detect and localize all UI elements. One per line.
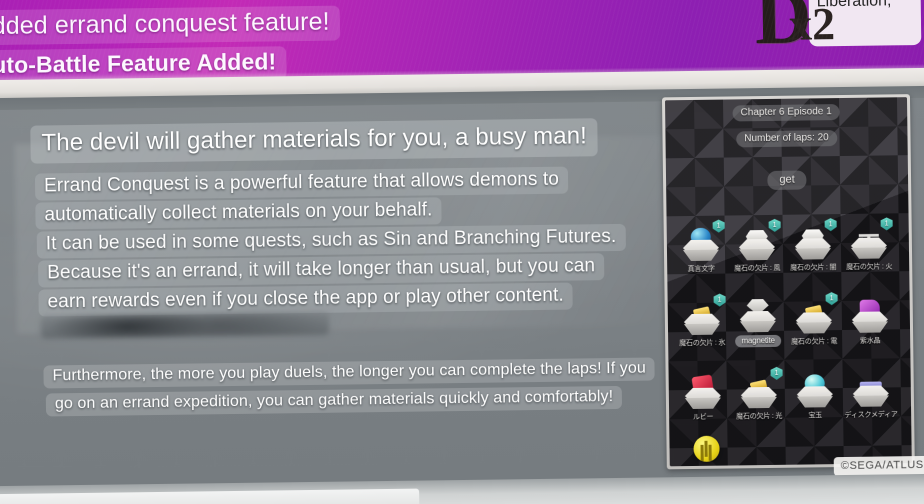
item-label: 魔石の欠片 : 闇 — [790, 262, 836, 273]
pedestal-side — [853, 395, 889, 406]
reward-item[interactable]: 1魔石の欠片 : 光 — [730, 359, 787, 422]
reward-item[interactable]: ルビー — [674, 359, 731, 422]
chapter-label: Chapter 6 Episode 1 — [732, 104, 839, 121]
pedestal-side — [852, 321, 888, 332]
banner-headline-errand: Added errand conquest feature! — [0, 6, 340, 46]
item-label: ディスクメディア — [844, 409, 897, 420]
pedestal-side — [796, 322, 832, 333]
page-title: The devil will gather materials for you,… — [30, 118, 598, 163]
game-screenshot-panel: Chapter 6 Episode 1 Number of laps: 20 g… — [662, 94, 915, 469]
reward-item[interactable]: 1真言文字 — [672, 212, 729, 275]
reward-item[interactable]: 1魔石の欠片 : 電 — [785, 284, 842, 347]
item-label: 紫水晶 — [860, 336, 881, 346]
item-label: 魔石の欠片 : 光 — [736, 411, 782, 422]
reward-item[interactable]: 1魔石の欠片 : 風 — [728, 211, 785, 274]
pedestal-side — [851, 247, 887, 258]
item-pedestal-icon — [792, 226, 834, 261]
logo-caption-main-text: Liberation, — [817, 0, 913, 11]
item-label: 魔石の欠片 : 火 — [846, 261, 892, 272]
pedestal-side — [685, 398, 721, 409]
laps-label: Number of laps: 20 — [736, 130, 837, 147]
logo-x2-mark: x2 — [789, 1, 836, 48]
item-label: ルビー — [693, 412, 714, 422]
bottom-white-strip — [0, 489, 419, 504]
item-pedestal-icon — [737, 299, 779, 334]
item-pedestal-icon — [682, 376, 724, 411]
reward-item[interactable]: 1魔石の欠片 : 氷 — [673, 286, 730, 349]
item-label: 真言文字 — [688, 264, 715, 274]
body-line: automatically collect materials on your … — [35, 197, 441, 229]
item-pedestal-icon — [681, 302, 723, 337]
pedestal-side — [739, 249, 775, 260]
game-logo: Shin Megami Liberation, D x2 — [754, 0, 924, 64]
item-pedestal-icon — [848, 225, 890, 260]
item-pedestal-icon — [793, 300, 835, 335]
logo-d-mark: D — [754, 0, 811, 56]
item-label: magnetite — [735, 335, 780, 348]
pedestal-side — [684, 324, 720, 335]
get-button[interactable]: get — [767, 170, 807, 190]
reward-item[interactable]: 宝玉 — [786, 358, 843, 421]
item-pedestal-icon — [680, 228, 722, 263]
pedestal-side — [740, 321, 776, 332]
reward-item-grid: 1真言文字1魔石の欠片 : 風1魔石の欠片 : 闇1魔石の欠片 : 火1魔石の欠… — [672, 209, 899, 422]
pedestal-side — [795, 248, 831, 259]
game-screenshot: Chapter 6 Episode 1 Number of laps: 20 g… — [665, 97, 912, 466]
item-pedestal-icon — [849, 299, 891, 334]
copyright-notice: ©SEGA/ATLUS — [834, 456, 924, 476]
item-pedestal-icon — [738, 375, 780, 410]
reward-item[interactable]: 紫水晶 — [841, 283, 898, 346]
item-label: 魔石の欠片 : 風 — [734, 263, 780, 274]
item-label: 宝玉 — [808, 410, 822, 420]
reward-item[interactable]: 1魔石の欠片 : 闇 — [784, 210, 841, 273]
pedestal-side — [797, 396, 833, 407]
item-pedestal-icon — [850, 373, 892, 408]
logo-caption: Shin Megami Liberation, — [808, 0, 921, 46]
pedestal-side — [741, 397, 777, 408]
redacted-text-bar — [41, 313, 329, 339]
item-label: 魔石の欠片 : 氷 — [679, 338, 725, 349]
item-pedestal-icon — [794, 374, 836, 409]
pedestal-side — [683, 250, 719, 261]
screen-content: Added errand conquest feature! Auto-Batt… — [0, 0, 924, 504]
photographed-screen: Added errand conquest feature! Auto-Batt… — [0, 0, 924, 504]
item-pedestal-icon — [736, 227, 778, 262]
reward-item[interactable]: magnetite — [729, 285, 786, 348]
reward-item[interactable]: ディスクメディア — [842, 357, 899, 420]
item-label: 魔石の欠片 : 電 — [791, 336, 837, 347]
reward-item[interactable]: 1魔石の欠片 : 火 — [840, 209, 897, 272]
